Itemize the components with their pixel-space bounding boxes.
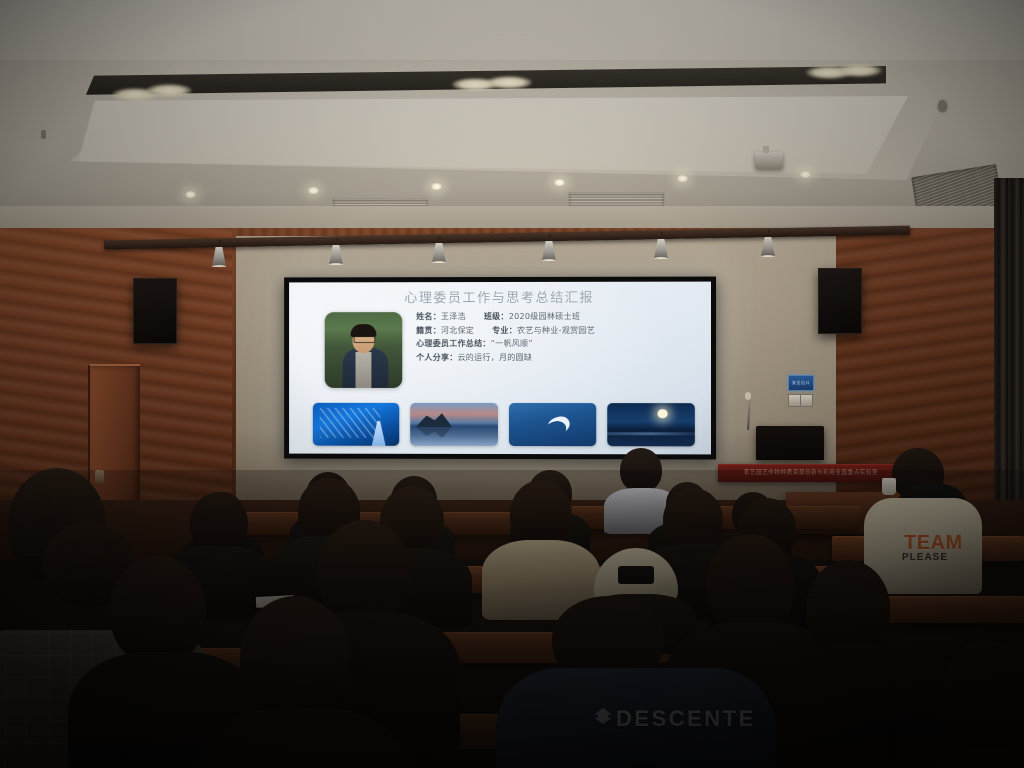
exit-sign: 安全出口 [788, 375, 814, 391]
microphone-icon [745, 392, 751, 400]
projector-icon [755, 152, 783, 169]
exit-sign-label: 安全出口 [789, 376, 813, 390]
curtain [994, 178, 1024, 538]
jacket-brand-text: DESCENTE [616, 706, 756, 732]
ceiling-downlight [553, 178, 566, 187]
stage-banner-text: 农艺园艺作物种质资源创新与利用全国重点实验室 [718, 465, 904, 482]
cove-light [836, 64, 882, 77]
slide-line-name: 姓名：王泽浩班级：2020级园林硕士班 [416, 310, 701, 324]
abstract-blue-thumbnail [313, 403, 400, 446]
hoodie-text-please: PLEASE [902, 552, 948, 563]
paper-cup [882, 478, 896, 495]
slide-info-block: 姓名：王泽浩班级：2020级园林硕士班 籍贯：河北保定专业：农艺与种业-观赏园艺… [416, 310, 701, 364]
cove-light [146, 84, 192, 97]
ceiling-sprinkler-icon [41, 130, 46, 139]
cap-strap-gap [618, 566, 654, 584]
light-switch-right[interactable] [800, 394, 813, 407]
slide-line-hometown: 籍贯：河北保定专业：农艺与种业-观赏园艺 [416, 323, 701, 337]
ceiling-downlight [184, 190, 197, 199]
night-city-moon-thumbnail [607, 403, 695, 446]
presenter-portrait-photo [325, 312, 402, 388]
lectern [756, 426, 824, 460]
crescent-moon-thumbnail [509, 403, 596, 446]
slide-line-summary: 心理委员工作总结：“一帆风顺” [416, 337, 701, 351]
projection-screen-frame: 心理委员工作与思考总结汇报 姓名：王泽浩班级：2020级园林硕士班 籍贯：河北保… [284, 277, 716, 460]
door-handle-icon [95, 470, 104, 483]
slide-title: 心理委员工作与思考总结汇报 [289, 287, 711, 307]
wall-speaker-left [133, 278, 177, 344]
mountain-sunset-thumbnail [410, 403, 497, 446]
ceiling-cove-inner [78, 96, 908, 174]
ceiling-downlight [676, 174, 689, 183]
ceiling-downlight [799, 170, 812, 179]
ceiling-upper-face [0, 0, 1024, 60]
lecture-hall-photo: 安全出口 心理委员工作与思考总结汇报 姓名：王泽浩班级：2020级园林硕士班 籍… [0, 0, 1024, 768]
wall-speaker-right [818, 268, 862, 334]
cove-light [486, 76, 532, 89]
ceiling-downlight [307, 186, 320, 195]
ceiling-downlight [430, 182, 443, 191]
slide-line-share: 个人分享：云的运行，月的圆缺 [416, 350, 701, 364]
glasses-icon [354, 336, 376, 343]
slide-thumbnail-strip [313, 403, 695, 447]
stage-banner: 农艺园艺作物种质资源创新与利用全国重点实验室 [718, 464, 904, 482]
projection-screen: 心理委员工作与思考总结汇报 姓名：王泽浩班级：2020级园林硕士班 籍贯：河北保… [289, 282, 711, 455]
ceiling-sensor-icon [938, 100, 947, 112]
